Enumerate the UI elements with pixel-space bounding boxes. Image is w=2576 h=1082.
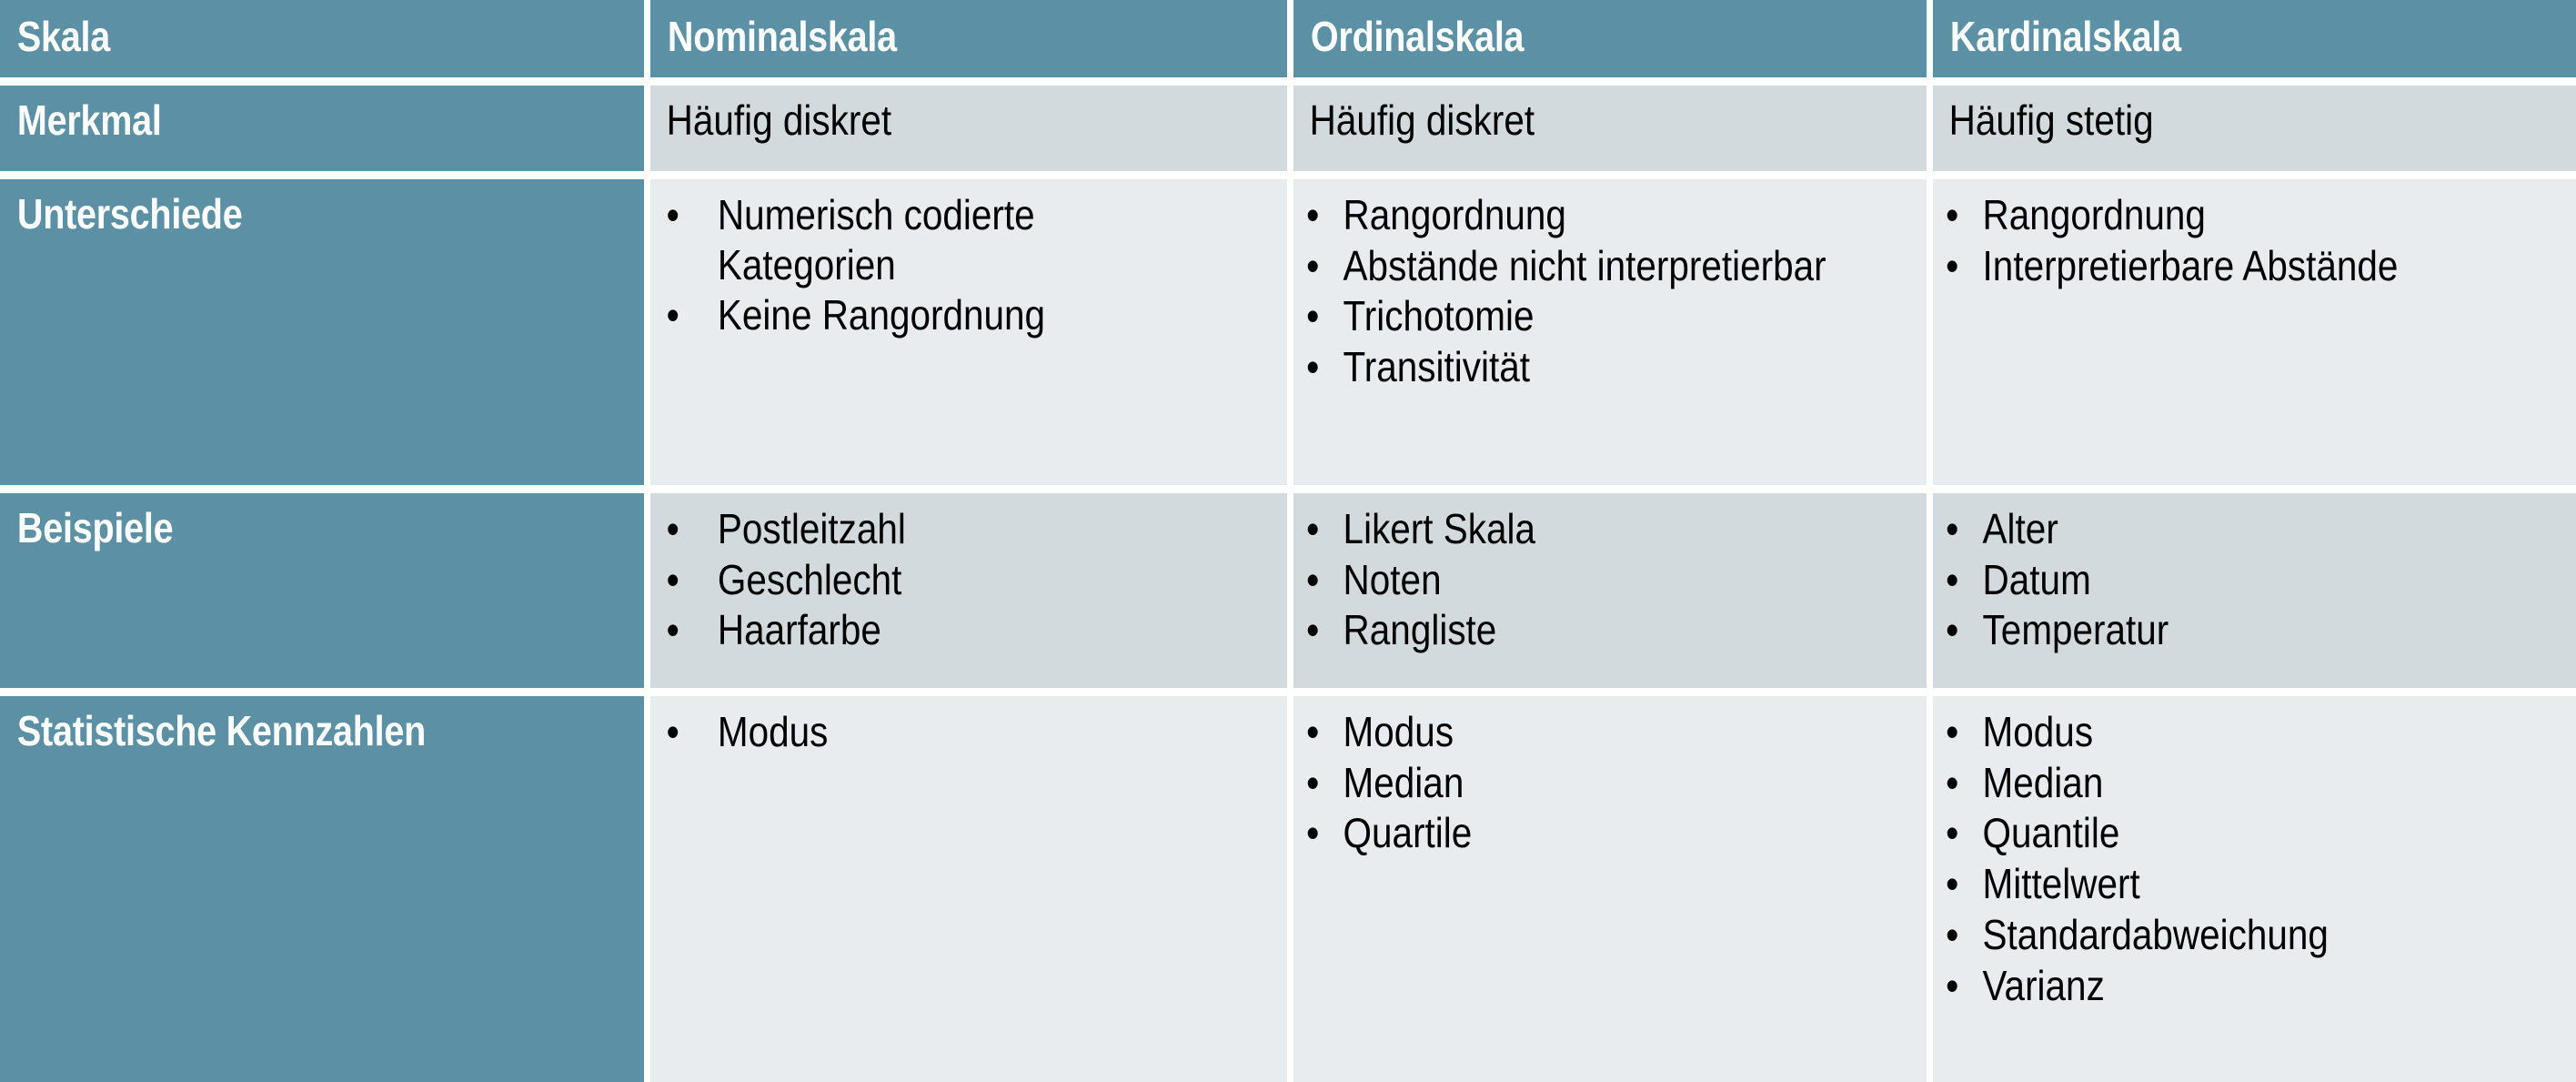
bullet-item: •Quantile (1933, 808, 2504, 858)
bullet-item: •Keine Rangordnung (650, 290, 1211, 340)
bullet-text: Geschlecht (718, 556, 902, 603)
bullet-text: Quartile (1343, 809, 1473, 856)
bullet-list: •Postleitzahl•Geschlecht•Haarfarbe (650, 493, 1287, 655)
column-divider (644, 696, 650, 1082)
bullet-icon: • (1946, 910, 1958, 960)
bullet-icon: • (1946, 707, 1958, 757)
header-cell-ordinalskala: Ordinalskala (1293, 0, 1927, 77)
scale-comparison-table: Skala Nominalskala Ordinalskala Kardinal… (0, 0, 2576, 1079)
column-header-label: Skala (0, 0, 554, 58)
bullet-text: Median (1983, 759, 2104, 806)
bullet-icon: • (1306, 504, 1319, 554)
bullet-icon: • (667, 190, 679, 240)
bullet-icon: • (1306, 758, 1319, 808)
bullet-icon: • (1306, 291, 1319, 341)
bullet-icon: • (1306, 342, 1319, 392)
header-cell-kardinalskala: Kardinalskala (1933, 0, 2576, 77)
bullet-text: Median (1343, 759, 1464, 806)
column-header-label: Ordinalskala (1293, 0, 1838, 58)
bullet-text: Datum (1983, 556, 2091, 603)
bullet-item: •Median (1933, 758, 2504, 808)
bullet-icon: • (1306, 707, 1319, 757)
bullet-text: Varianz (1983, 962, 2105, 1009)
bullet-item: •Geschlecht (650, 555, 1211, 605)
bullet-item: •Postleitzahl (650, 504, 1211, 554)
bullet-text: Likert Skala (1343, 505, 1536, 552)
bullet-item: •Numerisch codierte Kategorien (650, 190, 1211, 289)
column-divider (1287, 696, 1293, 1082)
column-header-label: Kardinalskala (1933, 0, 2491, 58)
bullet-text: Postleitzahl (718, 505, 906, 552)
bullet-icon: • (667, 555, 679, 605)
row-header-beispiele: Beispiele (0, 493, 644, 688)
cell-merkmal-nominalskala: Häufig diskret (650, 86, 1287, 171)
bullet-icon: • (1946, 758, 1958, 808)
bullet-icon: • (667, 605, 679, 655)
row-divider (0, 77, 2576, 86)
bullet-text: Trichotomie (1343, 292, 1535, 339)
bullet-text: Rangordnung (1343, 191, 1566, 238)
cell-beispiele-nominalskala: •Postleitzahl•Geschlecht•Haarfarbe (650, 493, 1287, 688)
bullet-item: •Alter (1933, 504, 2504, 554)
bullet-icon: • (1946, 808, 1958, 858)
bullet-text: Transitivität (1343, 343, 1530, 390)
bullet-text: Modus (1343, 708, 1454, 755)
bullet-text: Numerisch codierte Kategorien (718, 191, 1035, 288)
bullet-icon: • (1306, 605, 1319, 655)
header-cell-skala: Skala (0, 0, 644, 77)
cell-merkmal-kardinalskala: Häufig stetig (1933, 86, 2576, 171)
bullet-item: •Quartile (1293, 808, 1850, 858)
bullet-icon: • (1946, 961, 1958, 1011)
bullet-item: •Rangliste (1293, 605, 1850, 655)
row-header-label: Statistische Kennzahlen (0, 696, 554, 753)
bullet-item: •Temperatur (1933, 605, 2504, 655)
bullet-list: •Rangordnung•Abstände nicht interpretier… (1293, 179, 1927, 392)
cell-kennzahlen-nominalskala: •Modus (650, 696, 1287, 1082)
bullet-icon: • (1946, 190, 1958, 240)
bullet-list: •Likert Skala•Noten•Rangliste (1293, 493, 1927, 655)
column-divider (1927, 86, 1933, 171)
bullet-text: Quantile (1983, 809, 2120, 856)
bullet-text: Standardabweichung (1983, 911, 2329, 958)
cell-beispiele-ordinalskala: •Likert Skala•Noten•Rangliste (1293, 493, 1927, 688)
column-divider (644, 179, 650, 485)
bullet-item: •Trichotomie (1293, 291, 1850, 341)
bullet-text: Haarfarbe (718, 606, 881, 653)
table-row: Unterschiede •Numerisch codierte Kategor… (0, 179, 2576, 485)
column-divider (1927, 0, 1933, 77)
column-divider (1287, 179, 1293, 485)
bullet-list: •Numerisch codierte Kategorien•Keine Ran… (650, 179, 1287, 340)
bullet-text: Rangliste (1343, 606, 1497, 653)
bullet-text: Rangordnung (1983, 191, 2206, 238)
row-header-label: Unterschiede (0, 179, 554, 236)
cell-text: Häufig stetig (1933, 86, 2504, 142)
bullet-icon: • (1306, 241, 1319, 291)
row-header-label: Beispiele (0, 493, 554, 550)
bullet-list: •Modus•Median•Quantile•Mittelwert•Standa… (1933, 696, 2576, 1010)
column-divider (1927, 696, 1933, 1082)
bullet-text: Abstände nicht interpretierbar (1343, 242, 1826, 289)
bullet-list: •Alter•Datum•Temperatur (1933, 493, 2576, 655)
cell-text: Häufig diskret (650, 86, 1211, 142)
cell-text: Häufig diskret (1293, 86, 1850, 142)
row-header-unterschiede: Unterschiede (0, 179, 644, 485)
column-divider (1927, 179, 1933, 485)
column-divider (644, 493, 650, 688)
bullet-item: •Transitivität (1293, 342, 1850, 392)
cell-merkmal-ordinalskala: Häufig diskret (1293, 86, 1927, 171)
bullet-item: •Abstände nicht interpretierbar (1293, 241, 1850, 291)
cell-unterschiede-nominalskala: •Numerisch codierte Kategorien•Keine Ran… (650, 179, 1287, 485)
row-divider (0, 485, 2576, 493)
bullet-icon: • (1946, 241, 1958, 291)
cell-beispiele-kardinalskala: •Alter•Datum•Temperatur (1933, 493, 2576, 688)
bullet-item: •Rangordnung (1933, 190, 2504, 240)
row-divider (0, 171, 2576, 179)
column-divider (644, 0, 650, 77)
bullet-list: •Modus (650, 696, 1287, 757)
bullet-item: •Modus (650, 707, 1211, 757)
table-row: Merkmal Häufig diskret Häufig diskret Hä… (0, 86, 2576, 171)
bullet-text: Modus (1983, 708, 2094, 755)
bullet-text: Alter (1983, 505, 2058, 552)
bullet-item: •Median (1293, 758, 1850, 808)
column-divider (1287, 493, 1293, 688)
bullet-icon: • (1946, 859, 1958, 909)
table-row: Beispiele •Postleitzahl•Geschlecht•Haarf… (0, 493, 2576, 688)
bullet-item: •Likert Skala (1293, 504, 1850, 554)
table-header-row: Skala Nominalskala Ordinalskala Kardinal… (0, 0, 2576, 77)
bullet-item: •Modus (1293, 707, 1850, 757)
bullet-text: Modus (718, 708, 829, 755)
column-divider (644, 86, 650, 171)
header-cell-nominalskala: Nominalskala (650, 0, 1287, 77)
bullet-item: •Datum (1933, 555, 2504, 605)
cell-unterschiede-ordinalskala: •Rangordnung•Abstände nicht interpretier… (1293, 179, 1927, 485)
bullet-item: •Modus (1933, 707, 2504, 757)
bullet-icon: • (1946, 605, 1958, 655)
bullet-item: •Standardabweichung (1933, 910, 2504, 960)
bullet-icon: • (667, 290, 679, 340)
bullet-list: •Modus•Median•Quartile (1293, 696, 1927, 858)
bullet-text: Temperatur (1983, 606, 2169, 653)
bullet-icon: • (1946, 555, 1958, 605)
column-divider (1287, 86, 1293, 171)
row-header-statistische-kennzahlen: Statistische Kennzahlen (0, 696, 644, 1082)
bullet-icon: • (1946, 504, 1958, 554)
column-divider (1927, 493, 1933, 688)
bullet-icon: • (1306, 808, 1319, 858)
bullet-item: •Haarfarbe (650, 605, 1211, 655)
bullet-text: Keine Rangordnung (718, 291, 1045, 339)
column-header-label: Nominalskala (650, 0, 1198, 58)
bullet-item: •Rangordnung (1293, 190, 1850, 240)
cell-kennzahlen-kardinalskala: •Modus•Median•Quantile•Mittelwert•Standa… (1933, 696, 2576, 1082)
bullet-icon: • (667, 504, 679, 554)
row-header-merkmal: Merkmal (0, 86, 644, 171)
bullet-text: Interpretierbare Abstände (1983, 242, 2399, 289)
table-row: Statistische Kennzahlen •Modus •Modus•Me… (0, 696, 2576, 1082)
bullet-item: •Mittelwert (1933, 859, 2504, 909)
bullet-list: •Rangordnung•Interpretierbare Abstände (1933, 179, 2576, 290)
bullet-item: •Noten (1293, 555, 1850, 605)
bullet-icon: • (667, 707, 679, 757)
cell-unterschiede-kardinalskala: •Rangordnung•Interpretierbare Abstände (1933, 179, 2576, 485)
bullet-item: •Varianz (1933, 961, 2504, 1011)
bullet-icon: • (1306, 555, 1319, 605)
cell-kennzahlen-ordinalskala: •Modus•Median•Quartile (1293, 696, 1927, 1082)
row-header-label: Merkmal (0, 86, 554, 142)
bullet-text: Mittelwert (1983, 860, 2140, 907)
bullet-text: Noten (1343, 556, 1442, 603)
bullet-icon: • (1306, 190, 1319, 240)
column-divider (1287, 0, 1293, 77)
row-divider (0, 688, 2576, 696)
bullet-item: •Interpretierbare Abstände (1933, 241, 2504, 291)
